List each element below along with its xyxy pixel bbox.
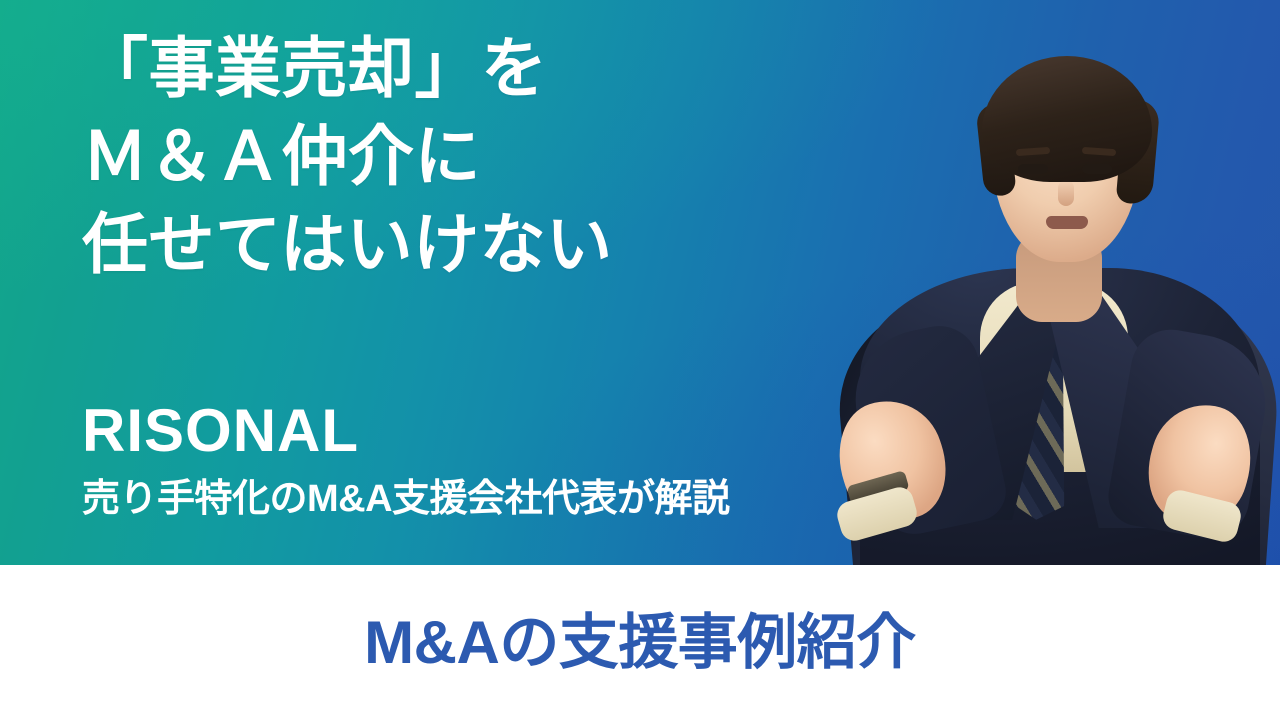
presenter-hair: [982, 56, 1152, 182]
headline: 「事業売却」を Ｍ＆Ａ仲介に 任せてはいけない: [82, 24, 613, 288]
brand-name: RISONAL: [82, 400, 730, 462]
headline-line-1: 「事業売却」を: [82, 24, 613, 112]
presenter-photo: [820, 0, 1280, 565]
headline-line-2: Ｍ＆Ａ仲介に: [82, 112, 613, 200]
hero-section: 「事業売却」を Ｍ＆Ａ仲介に 任せてはいけない RISONAL 売り手特化のM&…: [0, 0, 1280, 565]
bottom-banner: M&Aの支援事例紹介: [0, 565, 1280, 720]
presenter-mouth: [1046, 216, 1088, 229]
brand-tagline: 売り手特化のM&A支援会社代表が解説: [82, 478, 730, 520]
bottom-banner-text: M&Aの支援事例紹介: [364, 608, 916, 678]
headline-line-3: 任せてはいけない: [82, 200, 613, 288]
presenter-nose: [1058, 180, 1074, 206]
presenter-eye-right: [1082, 164, 1112, 174]
thumbnail-canvas: 「事業売却」を Ｍ＆Ａ仲介に 任せてはいけない RISONAL 売り手特化のM&…: [0, 0, 1280, 720]
brand-block: RISONAL 売り手特化のM&A支援会社代表が解説: [82, 400, 730, 520]
presenter-eye-left: [1018, 164, 1048, 174]
